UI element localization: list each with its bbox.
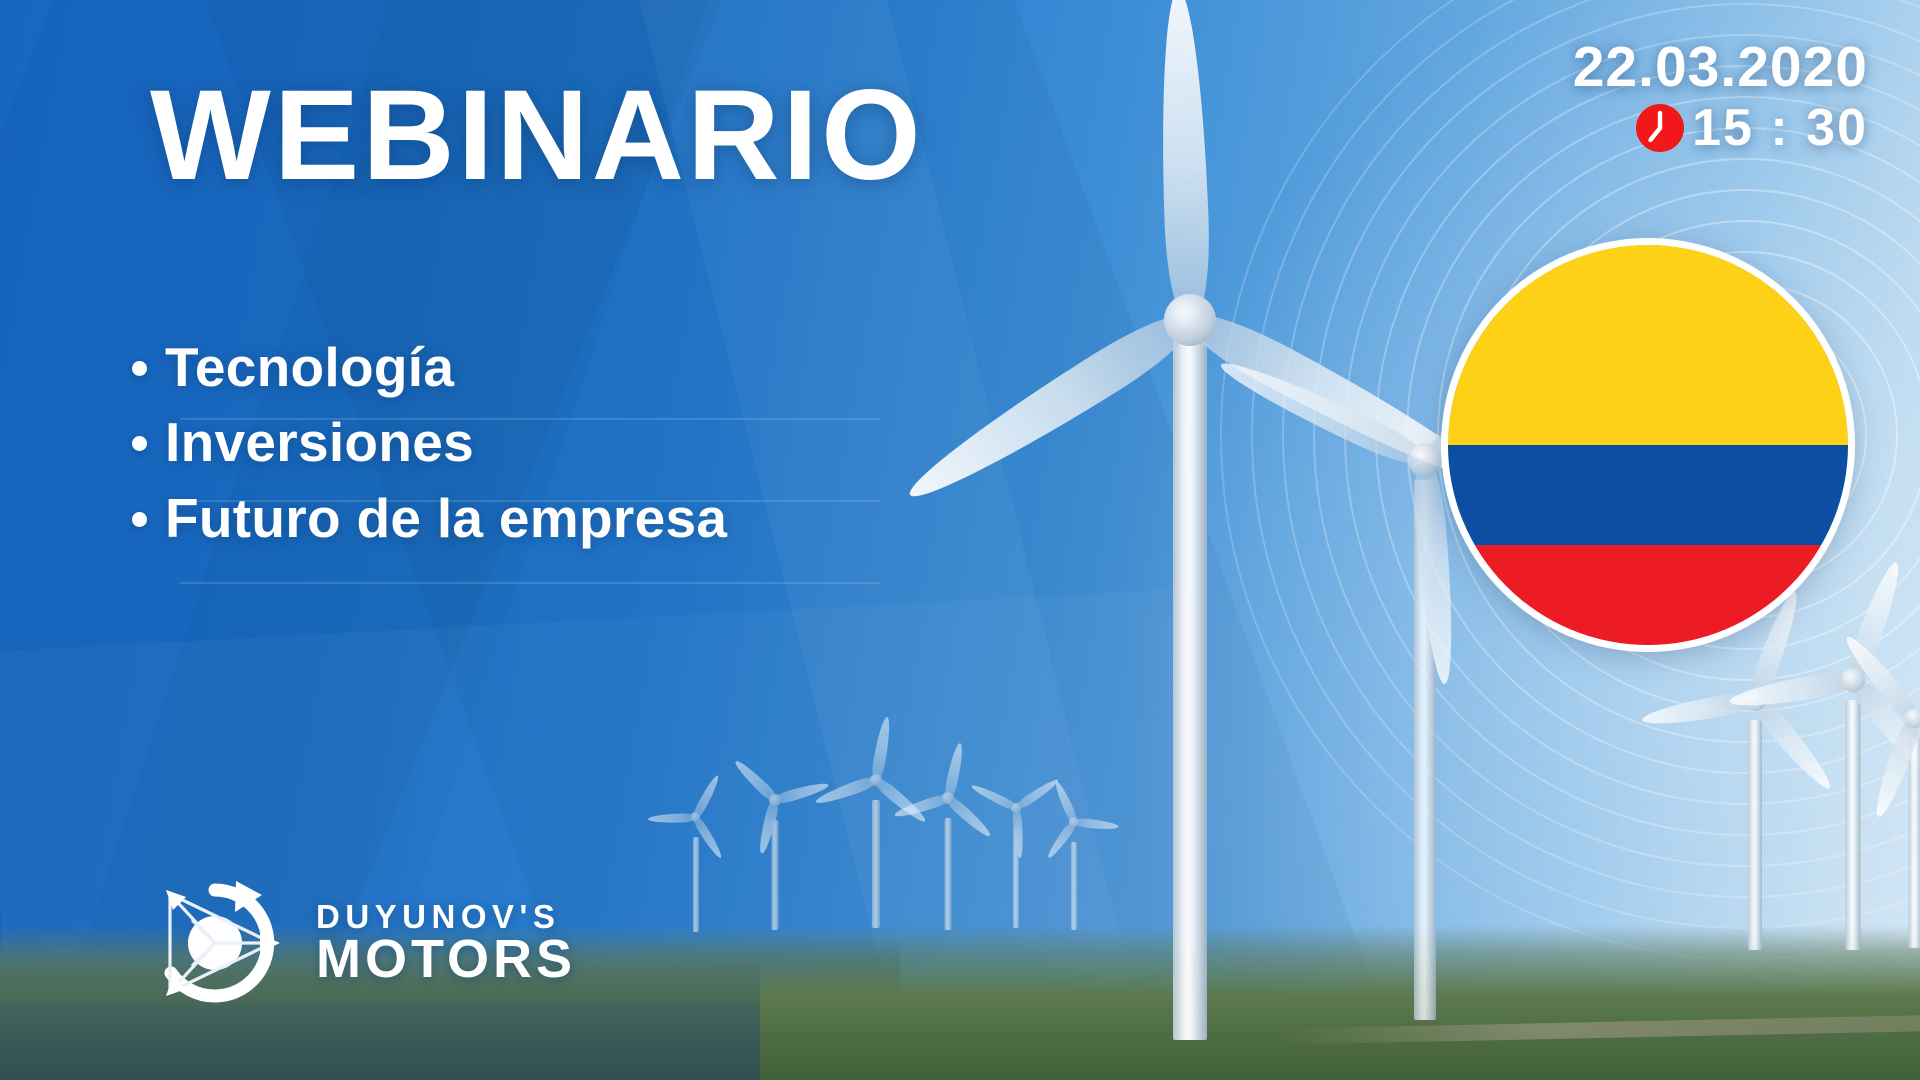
agenda-item-label: Inversiones — [165, 413, 474, 471]
agenda-item: Tecnología — [132, 338, 727, 396]
webinar-banner: WEBINARIO 22.03.2020 15 : 30 TecnologíaI… — [0, 0, 1920, 1080]
turbine-hub — [1408, 443, 1442, 477]
brand-logo: DUYUNOV'S MOTORS — [140, 868, 576, 1018]
clock-icon — [1634, 102, 1686, 154]
agenda-list: TecnologíaInversionesFuturo de la empres… — [132, 338, 727, 564]
agenda-item-label: Futuro de la empresa — [165, 489, 727, 547]
turbine-hub — [769, 794, 780, 805]
flag-band-blue — [1448, 445, 1848, 545]
brand-line-2: MOTORS — [316, 933, 576, 985]
turbine-tower — [772, 820, 779, 930]
bullet-dot-icon — [132, 361, 147, 376]
turbine-blade — [1215, 351, 1432, 473]
webinar-time: 15 : 30 — [1692, 102, 1868, 154]
agenda-item: Futuro de la empresa — [132, 489, 727, 547]
turbine-hub — [691, 812, 701, 822]
schedule-block: 22.03.2020 15 : 30 — [1573, 38, 1868, 154]
turbine-tower — [1909, 738, 1920, 948]
duyunovs-motors-logo-icon — [140, 868, 290, 1018]
decor-line — [180, 582, 880, 584]
turbine-blade — [898, 301, 1201, 513]
agenda-item-label: Tecnología — [165, 338, 454, 396]
agenda-item: Inversiones — [132, 413, 727, 471]
distant-turbine — [1790, 593, 1920, 948]
brand-wordmark: DUYUNOV'S MOTORS — [316, 901, 576, 985]
webinar-date: 22.03.2020 — [1573, 38, 1868, 96]
webinar-time-row: 15 : 30 — [1573, 102, 1868, 154]
bullet-dot-icon — [132, 436, 147, 451]
page-title: WEBINARIO — [150, 72, 924, 200]
flag-band-yellow — [1448, 245, 1848, 445]
brand-line-1: DUYUNOV'S — [316, 901, 576, 933]
turbine-tower — [693, 837, 699, 932]
bullet-dot-icon — [132, 512, 147, 527]
colombia-flag-icon — [1448, 245, 1848, 645]
turbine-blade — [648, 813, 696, 824]
flag-band-red — [1448, 545, 1848, 645]
